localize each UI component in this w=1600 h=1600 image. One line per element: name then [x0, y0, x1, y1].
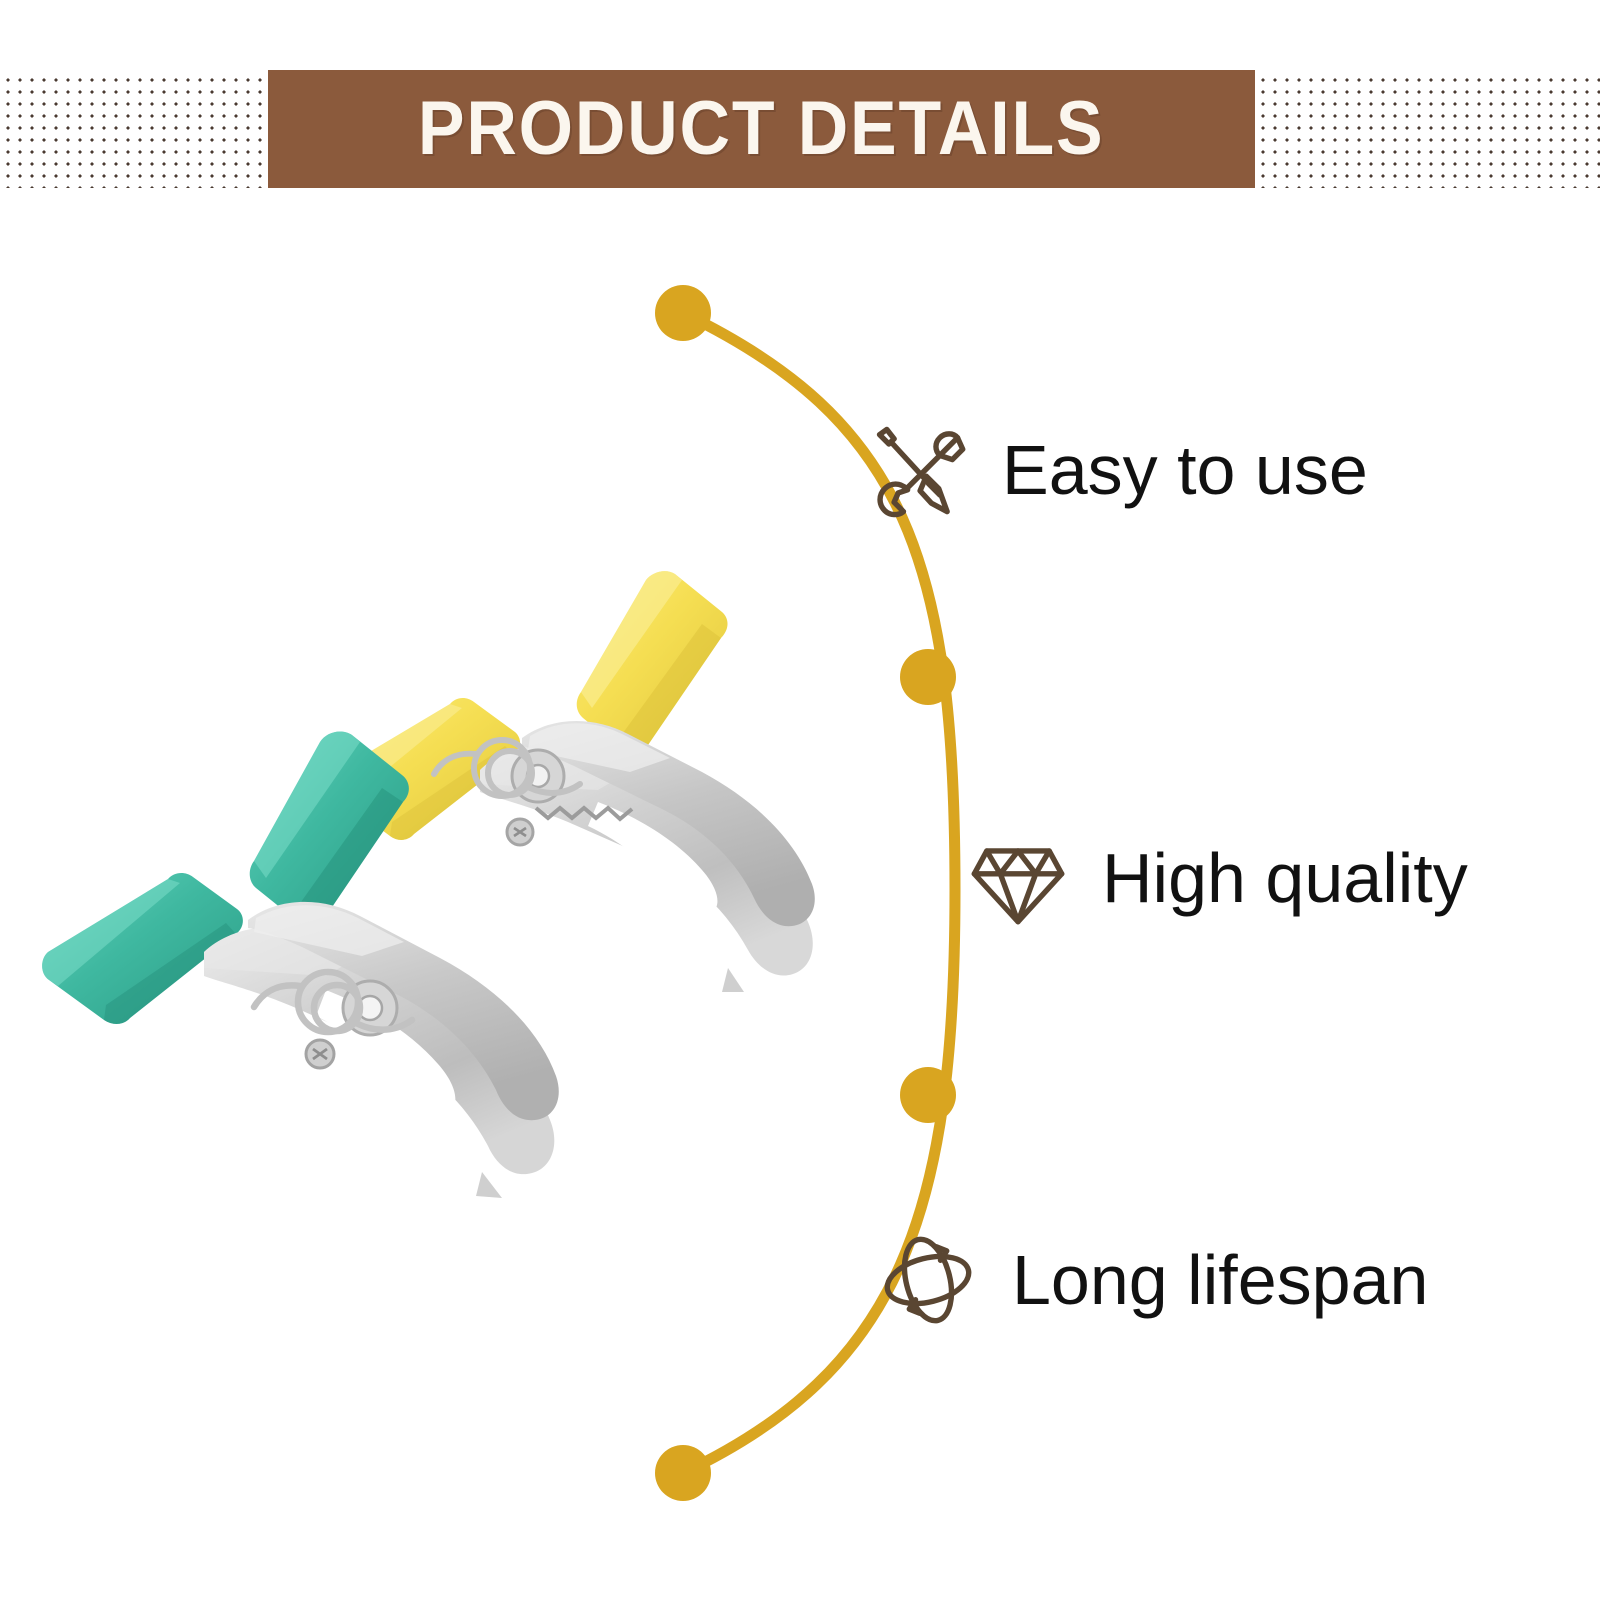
- feature-label-high-quality: High quality: [1102, 843, 1468, 913]
- arc-node-bottom: [655, 1445, 711, 1501]
- wrench-screwdriver-icon: [866, 418, 970, 522]
- product-details-infographic: PRODUCT DETAILS Easy to use: [0, 0, 1600, 1600]
- feature-label-easy-to-use: Easy to use: [1002, 435, 1368, 505]
- diamond-icon: [966, 826, 1070, 930]
- dot-pattern-right: [1255, 70, 1600, 188]
- handle-upper: [250, 731, 409, 925]
- header-banner-strip: PRODUCT DETAILS: [0, 70, 1600, 188]
- dot-pattern-left: [0, 70, 268, 188]
- product-image-pruning-shears-green: [20, 720, 630, 1220]
- arc-node-easy: [900, 649, 956, 705]
- arc-node-top: [655, 285, 711, 341]
- page-title: PRODUCT DETAILS: [418, 91, 1105, 167]
- feature-item-easy-to-use: Easy to use: [866, 418, 1368, 522]
- blade-tip: [476, 1172, 502, 1198]
- feature-label-long-lifespan: Long lifespan: [1012, 1245, 1428, 1315]
- pruning-shears-green-illustration: [20, 720, 630, 1220]
- title-banner: PRODUCT DETAILS: [268, 70, 1255, 188]
- feature-item-long-lifespan: Long lifespan: [876, 1228, 1428, 1332]
- arc-node-quality: [900, 1067, 956, 1123]
- feature-item-high-quality: High quality: [966, 826, 1468, 930]
- orbit-lifespan-icon: [876, 1228, 980, 1332]
- blade-tip: [722, 968, 744, 992]
